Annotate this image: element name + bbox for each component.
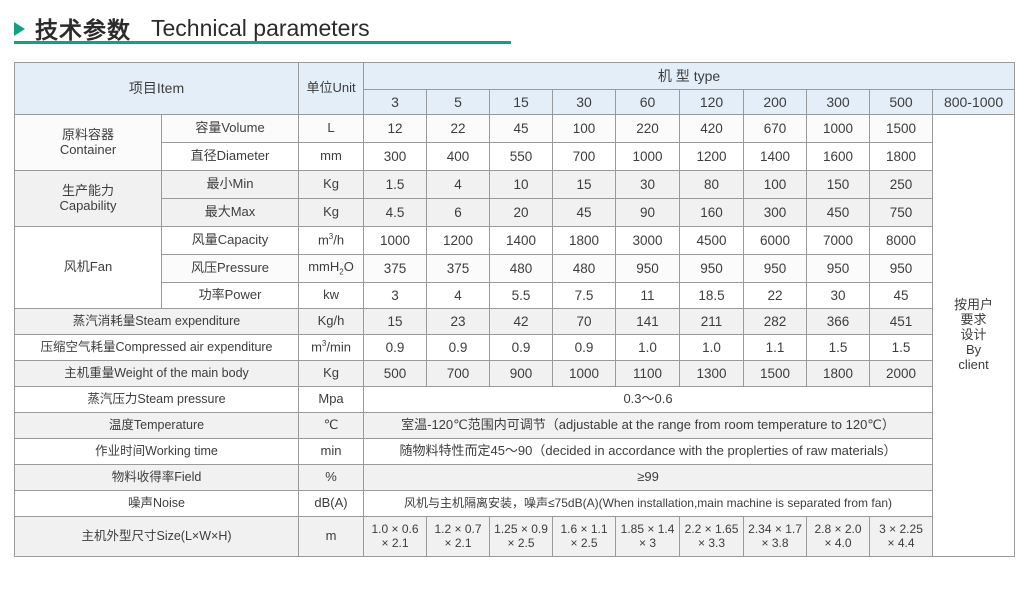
row-label-working-time: 作业时间Working time xyxy=(15,439,299,465)
cell-steam-expenditure-15: 42 xyxy=(490,309,553,335)
header-type-5: 5 xyxy=(427,90,490,115)
cell-size-500-l2: × 4.4 xyxy=(888,536,915,550)
row-unit-main-body-weight: Kg xyxy=(299,361,364,387)
cell-compressed-air-3: 0.9 xyxy=(364,335,427,361)
cell-size-3-l2: × 2.1 xyxy=(382,536,409,550)
cell-power-15: 5.5 xyxy=(490,283,553,309)
header-item: 项目Item xyxy=(15,63,299,115)
cell-min-30: 15 xyxy=(553,171,616,199)
table-row-size: 主机外型尺寸Size(L×W×H) m 1.0 × 0.6 × 2.1 1.2 … xyxy=(15,517,1015,557)
cell-air-pressure-200: 950 xyxy=(744,255,807,283)
cell-diameter-300: 1600 xyxy=(807,143,870,171)
group-label-capability-en: Capability xyxy=(59,198,116,213)
table-row-max: 最大Max Kg 4.5 6 20 45 90 160 300 450 750 xyxy=(15,199,1015,227)
page-title-en: Technical parameters xyxy=(151,15,370,42)
row-unit-steam-pressure: Mpa xyxy=(299,387,364,413)
header-type-300: 300 xyxy=(807,90,870,115)
cell-size-300-l2: × 4.0 xyxy=(825,536,852,550)
table-row-diameter: 直径Diameter mm 300 400 550 700 1000 1200 … xyxy=(15,143,1015,171)
row-unit-noise: dB(A) xyxy=(299,491,364,517)
cell-max-15: 20 xyxy=(490,199,553,227)
cell-size-200-l2: × 3.8 xyxy=(762,536,789,550)
cell-air-capacity-5: 1200 xyxy=(427,227,490,255)
cell-size-120-l2: × 3.3 xyxy=(698,536,725,550)
group-label-container: 原料容器 Container xyxy=(15,115,162,171)
technical-parameters-page: 技术参数 Technical parameters 项目Item 单位Unit … xyxy=(0,0,1029,600)
cell-diameter-200: 1400 xyxy=(744,143,807,171)
cell-steam-expenditure-300: 366 xyxy=(807,309,870,335)
row-label-volume: 容量Volume xyxy=(162,115,299,143)
page-title-cn: 技术参数 xyxy=(35,11,131,45)
cell-main-body-weight-120: 1300 xyxy=(680,361,744,387)
row-label-temperature: 温度Temperature xyxy=(15,413,299,439)
row-label-diameter: 直径Diameter xyxy=(162,143,299,171)
cell-compressed-air-500: 1.5 xyxy=(870,335,933,361)
header-type: 机 型 type xyxy=(364,63,1015,90)
cell-size-120: 2.2 × 1.65 × 3.3 xyxy=(680,517,744,557)
cell-noise-all: 风机与主机隔离安装，噪声≤75dB(A)(When installation,m… xyxy=(364,491,933,517)
table-header-row-1: 项目Item 单位Unit 机 型 type xyxy=(15,63,1015,90)
title-underline xyxy=(14,41,511,44)
cell-working-time-all: 随物料特性而定45～90（decided in accordance with … xyxy=(364,439,933,465)
row-unit-max: Kg xyxy=(299,199,364,227)
group-label-container-en: Container xyxy=(60,142,116,157)
group-label-container-cn: 原料容器 xyxy=(62,127,114,142)
cell-size-3: 1.0 × 0.6 × 2.1 xyxy=(364,517,427,557)
client-note-line-5: client xyxy=(958,357,988,372)
table-row-steam-expenditure: 蒸汽消耗量Steam expenditure Kg/h 15 23 42 70 … xyxy=(15,309,1015,335)
cell-air-capacity-500: 8000 xyxy=(870,227,933,255)
cell-steam-expenditure-5: 23 xyxy=(427,309,490,335)
table-row-temperature: 温度Temperature ℃ 室温-120℃范围内可调节（adjustable… xyxy=(15,413,1015,439)
group-label-capability: 生产能力 Capability xyxy=(15,171,162,227)
row-unit-min: Kg xyxy=(299,171,364,199)
cell-min-15: 10 xyxy=(490,171,553,199)
cell-max-300: 450 xyxy=(807,199,870,227)
client-note-line-4: By xyxy=(966,342,981,357)
cell-max-60: 90 xyxy=(616,199,680,227)
cell-steam-expenditure-500: 451 xyxy=(870,309,933,335)
row-label-steam-pressure: 蒸汽压力Steam pressure xyxy=(15,387,299,413)
cell-size-15-l1: 1.25 × 0.9 xyxy=(494,522,548,536)
row-unit-size: m xyxy=(299,517,364,557)
cell-size-60-l2: × 3 xyxy=(639,536,656,550)
cell-compressed-air-15: 0.9 xyxy=(490,335,553,361)
cell-diameter-120: 1200 xyxy=(680,143,744,171)
cell-size-30-l1: 1.6 × 1.1 xyxy=(560,522,607,536)
cell-power-300: 30 xyxy=(807,283,870,309)
row-unit-compressed-air: m3/min xyxy=(299,335,364,361)
header-unit: 单位Unit xyxy=(299,63,364,115)
cell-power-120: 18.5 xyxy=(680,283,744,309)
cell-size-30-l2: × 2.5 xyxy=(571,536,598,550)
header-type-30: 30 xyxy=(553,90,616,115)
cell-size-500-l1: 3 × 2.25 xyxy=(879,522,923,536)
row-unit-temperature: ℃ xyxy=(299,413,364,439)
cell-power-30: 7.5 xyxy=(553,283,616,309)
table-row-main-body-weight: 主机重量Weight of the main body Kg 500 700 9… xyxy=(15,361,1015,387)
row-label-noise: 噪声Noise xyxy=(15,491,299,517)
cell-main-body-weight-5: 700 xyxy=(427,361,490,387)
cell-air-pressure-30: 480 xyxy=(553,255,616,283)
cell-diameter-3: 300 xyxy=(364,143,427,171)
row-unit-diameter: mm xyxy=(299,143,364,171)
group-label-fan: 风机Fan xyxy=(15,227,162,309)
table-row-compressed-air: 压缩空气耗量Compressed air expenditure m3/min … xyxy=(15,335,1015,361)
cell-air-pressure-3: 375 xyxy=(364,255,427,283)
cell-size-200: 2.34 × 1.7 × 3.8 xyxy=(744,517,807,557)
row-label-compressed-air: 压缩空气耗量Compressed air expenditure xyxy=(15,335,299,361)
header-type-15: 15 xyxy=(490,90,553,115)
row-label-field: 物料收得率Field xyxy=(15,465,299,491)
cell-size-5-l1: 1.2 × 0.7 xyxy=(434,522,481,536)
cell-min-120: 80 xyxy=(680,171,744,199)
cell-main-body-weight-300: 1800 xyxy=(807,361,870,387)
cell-steam-expenditure-60: 141 xyxy=(616,309,680,335)
row-unit-steam-expenditure: Kg/h xyxy=(299,309,364,335)
cell-air-pressure-500: 950 xyxy=(870,255,933,283)
cell-max-120: 160 xyxy=(680,199,744,227)
cell-power-5: 4 xyxy=(427,283,490,309)
cell-power-200: 22 xyxy=(744,283,807,309)
cell-air-pressure-15: 480 xyxy=(490,255,553,283)
row-label-air-capacity: 风量Capacity xyxy=(162,227,299,255)
row-unit-working-time: min xyxy=(299,439,364,465)
cell-compressed-air-30: 0.9 xyxy=(553,335,616,361)
group-label-capability-cn: 生产能力 xyxy=(62,183,114,198)
cell-max-500: 750 xyxy=(870,199,933,227)
cell-steam-expenditure-120: 211 xyxy=(680,309,744,335)
cell-air-pressure-300: 950 xyxy=(807,255,870,283)
cell-size-120-l1: 2.2 × 1.65 xyxy=(685,522,739,536)
cell-power-500: 45 xyxy=(870,283,933,309)
header-type-60: 60 xyxy=(616,90,680,115)
cell-air-capacity-60: 3000 xyxy=(616,227,680,255)
cell-compressed-air-300: 1.5 xyxy=(807,335,870,361)
row-label-power: 功率Power xyxy=(162,283,299,309)
cell-main-body-weight-200: 1500 xyxy=(744,361,807,387)
cell-main-body-weight-500: 2000 xyxy=(870,361,933,387)
cell-size-300: 2.8 × 2.0 × 4.0 xyxy=(807,517,870,557)
cell-compressed-air-120: 1.0 xyxy=(680,335,744,361)
cell-min-500: 250 xyxy=(870,171,933,199)
table-row-min: 生产能力 Capability 最小Min Kg 1.5 4 10 15 30 … xyxy=(15,171,1015,199)
cell-size-60: 1.85 × 1.4 × 3 xyxy=(616,517,680,557)
cell-volume-120: 420 xyxy=(680,115,744,143)
table-row-noise: 噪声Noise dB(A) 风机与主机隔离安装，噪声≤75dB(A)(When … xyxy=(15,491,1015,517)
table-row-power: 功率Power kw 3 4 5.5 7.5 11 18.5 22 30 45 xyxy=(15,283,1015,309)
cell-volume-300: 1000 xyxy=(807,115,870,143)
cell-steam-expenditure-3: 15 xyxy=(364,309,427,335)
cell-air-pressure-60: 950 xyxy=(616,255,680,283)
cell-volume-30: 100 xyxy=(553,115,616,143)
table-row-air-pressure: 风压Pressure mmH2O 375 375 480 480 950 950… xyxy=(15,255,1015,283)
cell-max-200: 300 xyxy=(744,199,807,227)
cell-compressed-air-200: 1.1 xyxy=(744,335,807,361)
cell-steam-expenditure-30: 70 xyxy=(553,309,616,335)
row-label-main-body-weight: 主机重量Weight of the main body xyxy=(15,361,299,387)
cell-diameter-60: 1000 xyxy=(616,143,680,171)
cell-air-capacity-30: 1800 xyxy=(553,227,616,255)
row-label-steam-expenditure: 蒸汽消耗量Steam expenditure xyxy=(15,309,299,335)
cell-diameter-5: 400 xyxy=(427,143,490,171)
cell-main-body-weight-60: 1100 xyxy=(616,361,680,387)
cell-min-60: 30 xyxy=(616,171,680,199)
client-note-line-2: 要求 xyxy=(961,312,987,327)
cell-size-5-l2: × 2.1 xyxy=(445,536,472,550)
cell-size-15-l2: × 2.5 xyxy=(508,536,535,550)
cell-size-5: 1.2 × 0.7 × 2.1 xyxy=(427,517,490,557)
header-type-800-1000: 800-1000 xyxy=(933,90,1015,115)
table-row-working-time: 作业时间Working time min 随物料特性而定45～90（decide… xyxy=(15,439,1015,465)
cell-diameter-15: 550 xyxy=(490,143,553,171)
cell-min-5: 4 xyxy=(427,171,490,199)
row-unit-power: kw xyxy=(299,283,364,309)
cell-max-5: 6 xyxy=(427,199,490,227)
cell-power-60: 11 xyxy=(616,283,680,309)
spec-table: 项目Item 单位Unit 机 型 type 3 5 15 30 60 120 … xyxy=(14,62,1015,557)
cell-compressed-air-60: 1.0 xyxy=(616,335,680,361)
row-label-min: 最小Min xyxy=(162,171,299,199)
table-row-air-capacity: 风机Fan 风量Capacity m3/h 1000 1200 1400 180… xyxy=(15,227,1015,255)
cell-compressed-air-5: 0.9 xyxy=(427,335,490,361)
spec-table-wrapper: 项目Item 单位Unit 机 型 type 3 5 15 30 60 120 … xyxy=(14,62,1014,557)
cell-field-all: ≥99 xyxy=(364,465,933,491)
cell-volume-3: 12 xyxy=(364,115,427,143)
cell-size-15: 1.25 × 0.9 × 2.5 xyxy=(490,517,553,557)
table-row-field: 物料收得率Field % ≥99 xyxy=(15,465,1015,491)
row-label-max: 最大Max xyxy=(162,199,299,227)
cell-size-200-l1: 2.34 × 1.7 xyxy=(748,522,802,536)
cell-power-3: 3 xyxy=(364,283,427,309)
cell-volume-15: 45 xyxy=(490,115,553,143)
cell-air-capacity-300: 7000 xyxy=(807,227,870,255)
row-label-air-pressure: 风压Pressure xyxy=(162,255,299,283)
client-note-line-1: 按用户 xyxy=(954,297,993,312)
row-unit-field: % xyxy=(299,465,364,491)
play-triangle-icon xyxy=(14,22,25,36)
cell-air-pressure-5: 375 xyxy=(427,255,490,283)
cell-air-capacity-200: 6000 xyxy=(744,227,807,255)
cell-air-pressure-120: 950 xyxy=(680,255,744,283)
cell-volume-200: 670 xyxy=(744,115,807,143)
cell-size-500: 3 × 2.25 × 4.4 xyxy=(870,517,933,557)
client-design-note: 按用户 要求 设计 By client xyxy=(933,115,1015,557)
cell-main-body-weight-15: 900 xyxy=(490,361,553,387)
cell-volume-5: 22 xyxy=(427,115,490,143)
cell-steam-expenditure-200: 282 xyxy=(744,309,807,335)
header-type-120: 120 xyxy=(680,90,744,115)
cell-min-3: 1.5 xyxy=(364,171,427,199)
cell-diameter-30: 700 xyxy=(553,143,616,171)
cell-max-30: 45 xyxy=(553,199,616,227)
cell-size-30: 1.6 × 1.1 × 2.5 xyxy=(553,517,616,557)
row-unit-air-pressure: mmH2O xyxy=(299,255,364,283)
cell-air-capacity-120: 4500 xyxy=(680,227,744,255)
cell-main-body-weight-30: 1000 xyxy=(553,361,616,387)
header-type-500: 500 xyxy=(870,90,933,115)
cell-size-3-l1: 1.0 × 0.6 xyxy=(371,522,418,536)
cell-diameter-500: 1800 xyxy=(870,143,933,171)
row-label-size: 主机外型尺寸Size(L×W×H) xyxy=(15,517,299,557)
cell-main-body-weight-3: 500 xyxy=(364,361,427,387)
header-type-3: 3 xyxy=(364,90,427,115)
header-type-200: 200 xyxy=(744,90,807,115)
cell-steam-pressure-all: 0.3～0.6 xyxy=(364,387,933,413)
cell-volume-500: 1500 xyxy=(870,115,933,143)
row-unit-volume: L xyxy=(299,115,364,143)
cell-max-3: 4.5 xyxy=(364,199,427,227)
cell-air-capacity-15: 1400 xyxy=(490,227,553,255)
cell-air-capacity-3: 1000 xyxy=(364,227,427,255)
client-note-line-3: 设计 xyxy=(961,327,987,342)
cell-min-200: 100 xyxy=(744,171,807,199)
table-row-volume: 原料容器 Container 容量Volume L 12 22 45 100 2… xyxy=(15,115,1015,143)
cell-volume-60: 220 xyxy=(616,115,680,143)
cell-temperature-all: 室温-120℃范围内可调节（adjustable at the range fr… xyxy=(364,413,933,439)
cell-min-300: 150 xyxy=(807,171,870,199)
cell-size-60-l1: 1.85 × 1.4 xyxy=(621,522,675,536)
table-row-steam-pressure: 蒸汽压力Steam pressure Mpa 0.3～0.6 xyxy=(15,387,1015,413)
cell-size-300-l1: 2.8 × 2.0 xyxy=(814,522,861,536)
row-unit-air-capacity: m3/h xyxy=(299,227,364,255)
